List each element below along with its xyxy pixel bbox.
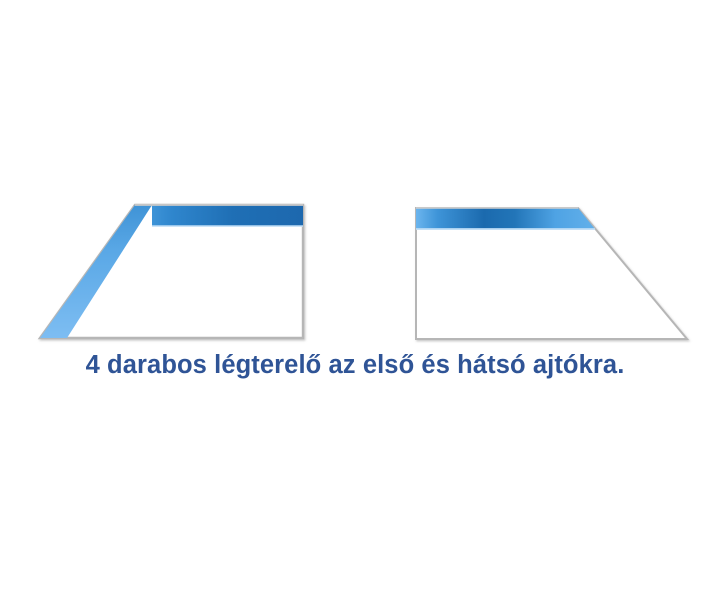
wind-deflector-pair-illustration (0, 0, 710, 360)
product-caption: 4 darabos légterelő az első és hátsó ajt… (0, 351, 710, 380)
illustration-canvas: 4 darabos légterelő az első és hátsó ajt… (0, 0, 710, 613)
rear-deflector-top-band (416, 208, 595, 229)
rear-door-deflector-shape (416, 208, 687, 339)
front-deflector-top-band (135, 205, 303, 226)
front-door-deflector-shape (40, 205, 303, 338)
